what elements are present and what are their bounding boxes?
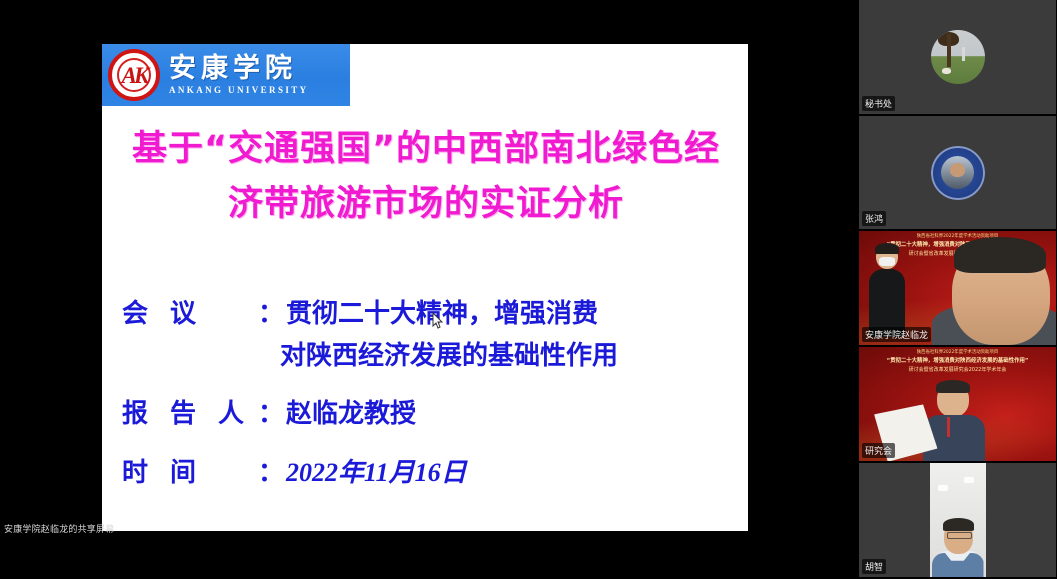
participant-name-4: 研究会 (862, 443, 895, 458)
slide-row-meeting-continuation: 对陕西经济发展的基础性作用 (280, 339, 738, 374)
participant-tile-1[interactable]: 秘书处 (859, 0, 1056, 114)
university-seal-icon: AK (108, 49, 160, 101)
background-person-3 (867, 245, 907, 337)
university-logo-banner: AK 安康学院 ANKANG UNIVERSITY (102, 44, 350, 106)
seal-monogram: AK (122, 64, 147, 87)
slide-row-meeting: 会议 ： 贯彻二十大精神，增强消费 (122, 297, 738, 332)
slide-row-meeting-value: 贯彻二十大精神，增强消费 (286, 297, 738, 332)
slide-row-speaker-value: 赵临龙教授 (286, 397, 738, 432)
participant-tile-3[interactable]: 陕西省社科界2022年度学术活动资助项目 “贯彻二十大精神，增强消费对陕西经济发… (859, 231, 1056, 345)
slide-row-speaker: 报告人 ： 赵临龙教授 (122, 397, 738, 432)
participant-name-2: 张鸿 (862, 211, 886, 226)
zoom-meeting-window: AK 安康学院 ANKANG UNIVERSITY 基于“交通强国”的中西部南北… (0, 0, 1057, 579)
slide-row-date: 时间 ： 2022年11月16日 (122, 455, 738, 491)
avatar (931, 30, 985, 84)
university-name-block: 安康学院 ANKANG UNIVERSITY (169, 55, 309, 95)
slide-title: 基于“交通强国”的中西部南北绿色经济带旅游市场的实证分析 (120, 122, 732, 233)
participant-name-5: 胡智 (862, 559, 886, 574)
slide-row-spacer-2 (122, 439, 738, 455)
banner-line-2: “贯彻二十大精神，增强消费对陕西经济发展的基础性作用” (865, 358, 1050, 365)
slide-row-date-value: 2022年11月16日 (286, 455, 738, 490)
slide-body: 会议 ： 贯彻二十大精神，增强消费 对陕西经济发展的基础性作用 报告人 ： 赵临… (122, 297, 738, 498)
portrait-video-frame (930, 463, 986, 577)
participant-tile-4[interactable]: 陕西省社科界2022年度学术活动资助项目 “贯彻二十大精神，增强消费对陕西经济发… (859, 347, 1056, 461)
shared-screen-area[interactable]: AK 安康学院 ANKANG UNIVERSITY 基于“交通强国”的中西部南北… (0, 0, 858, 579)
slide-row-speaker-colon: ： (258, 397, 284, 432)
slide-row-spacer (122, 381, 738, 397)
participant-filmstrip[interactable]: 秘书处 张鸿 陕西省社科界2022年度学术活动资助项目 “贯彻二十大精神，增强消… (858, 0, 1057, 579)
banner-line-1: 陕西省社科界2022年度学术活动资助项目 (865, 350, 1050, 356)
slide-row-date-colon: ： (258, 456, 284, 491)
slide-row-date-label: 时间 (122, 456, 272, 491)
conference-banner-4: 陕西省社科界2022年度学术活动资助项目 “贯彻二十大精神，增强消费对陕西经济发… (865, 350, 1050, 373)
university-name-en: ANKANG UNIVERSITY (169, 85, 309, 95)
video-feed-5 (859, 463, 1056, 577)
share-status-label: 安康学院赵临龙的共享屏幕 (4, 522, 114, 535)
slide-row-speaker-label: 报告人 (122, 397, 272, 432)
participant-tile-5[interactable]: 胡智 (859, 463, 1056, 577)
slide-row-meeting-label: 会议 (122, 297, 272, 332)
participant-name-3: 安康学院赵临龙 (862, 327, 931, 342)
landscape-avatar-image (931, 30, 985, 84)
participant-name-1: 秘书处 (862, 96, 895, 111)
participant-tile-2[interactable]: 张鸿 (859, 116, 1056, 229)
badge-avatar-image (931, 146, 985, 200)
slide-row-meeting-colon: ： (258, 297, 284, 332)
presentation-slide: AK 安康学院 ANKANG UNIVERSITY 基于“交通强国”的中西部南北… (102, 44, 748, 531)
avatar (931, 146, 985, 200)
university-name-cn: 安康学院 (169, 55, 309, 83)
banner-line-3: 研讨会暨省改革发展研究会2022年学术年会 (865, 367, 1050, 374)
